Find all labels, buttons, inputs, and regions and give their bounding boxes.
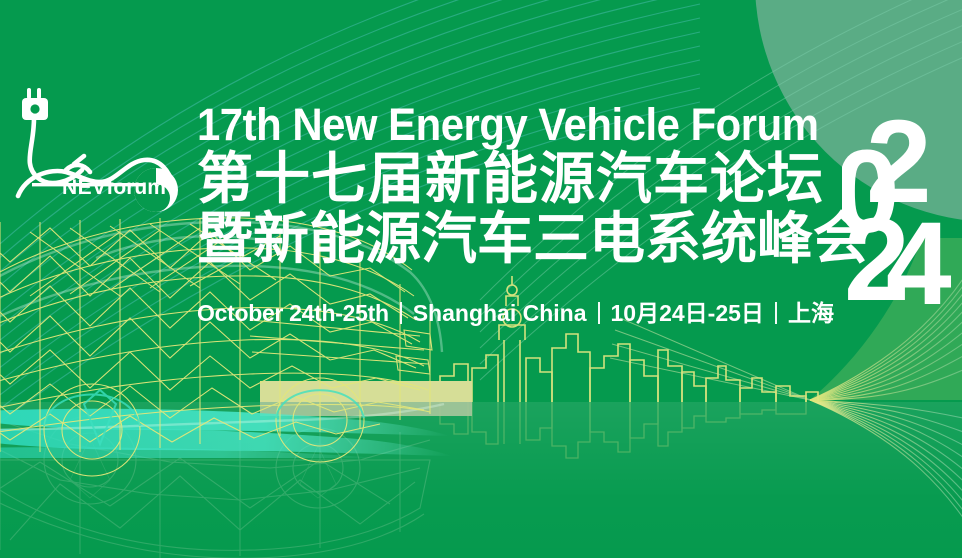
place-english: Shanghai China [413,300,587,326]
cyan-glow-strip [0,404,500,462]
separator-1 [400,302,402,324]
year-2024-mark: 2 0 2 4 [842,104,960,304]
yellow-accent-bar [260,381,472,402]
logo-wordmark: NEVforum [62,176,166,200]
place-chinese: 上海 [788,300,834,326]
logo-wordmark-bold: NEV [62,176,106,199]
separator-3 [775,302,777,324]
headline-chinese-line1: 第十七届新能源汽车论坛 [197,149,845,209]
date-chinese: 10月24日-25日 [611,300,764,326]
date-venue-line: October 24th-25th Shanghai China 10月24日-… [197,300,834,326]
logo-wordmark-light: forum [106,176,166,199]
headline-chinese-line2: 暨新能源汽车三电系统峰会 [197,209,845,269]
headline-english: 17th New Energy Vehicle Forum [197,101,800,149]
event-poster: NEVforum 17th New Energy Vehicle Forum 第… [0,0,962,558]
separator-2 [598,302,600,324]
headline-block: 17th New Energy Vehicle Forum 第十七届新能源汽车论… [197,101,845,269]
date-english: October 24th-25th [197,300,389,326]
year-digit-4: 4 [886,198,952,304]
